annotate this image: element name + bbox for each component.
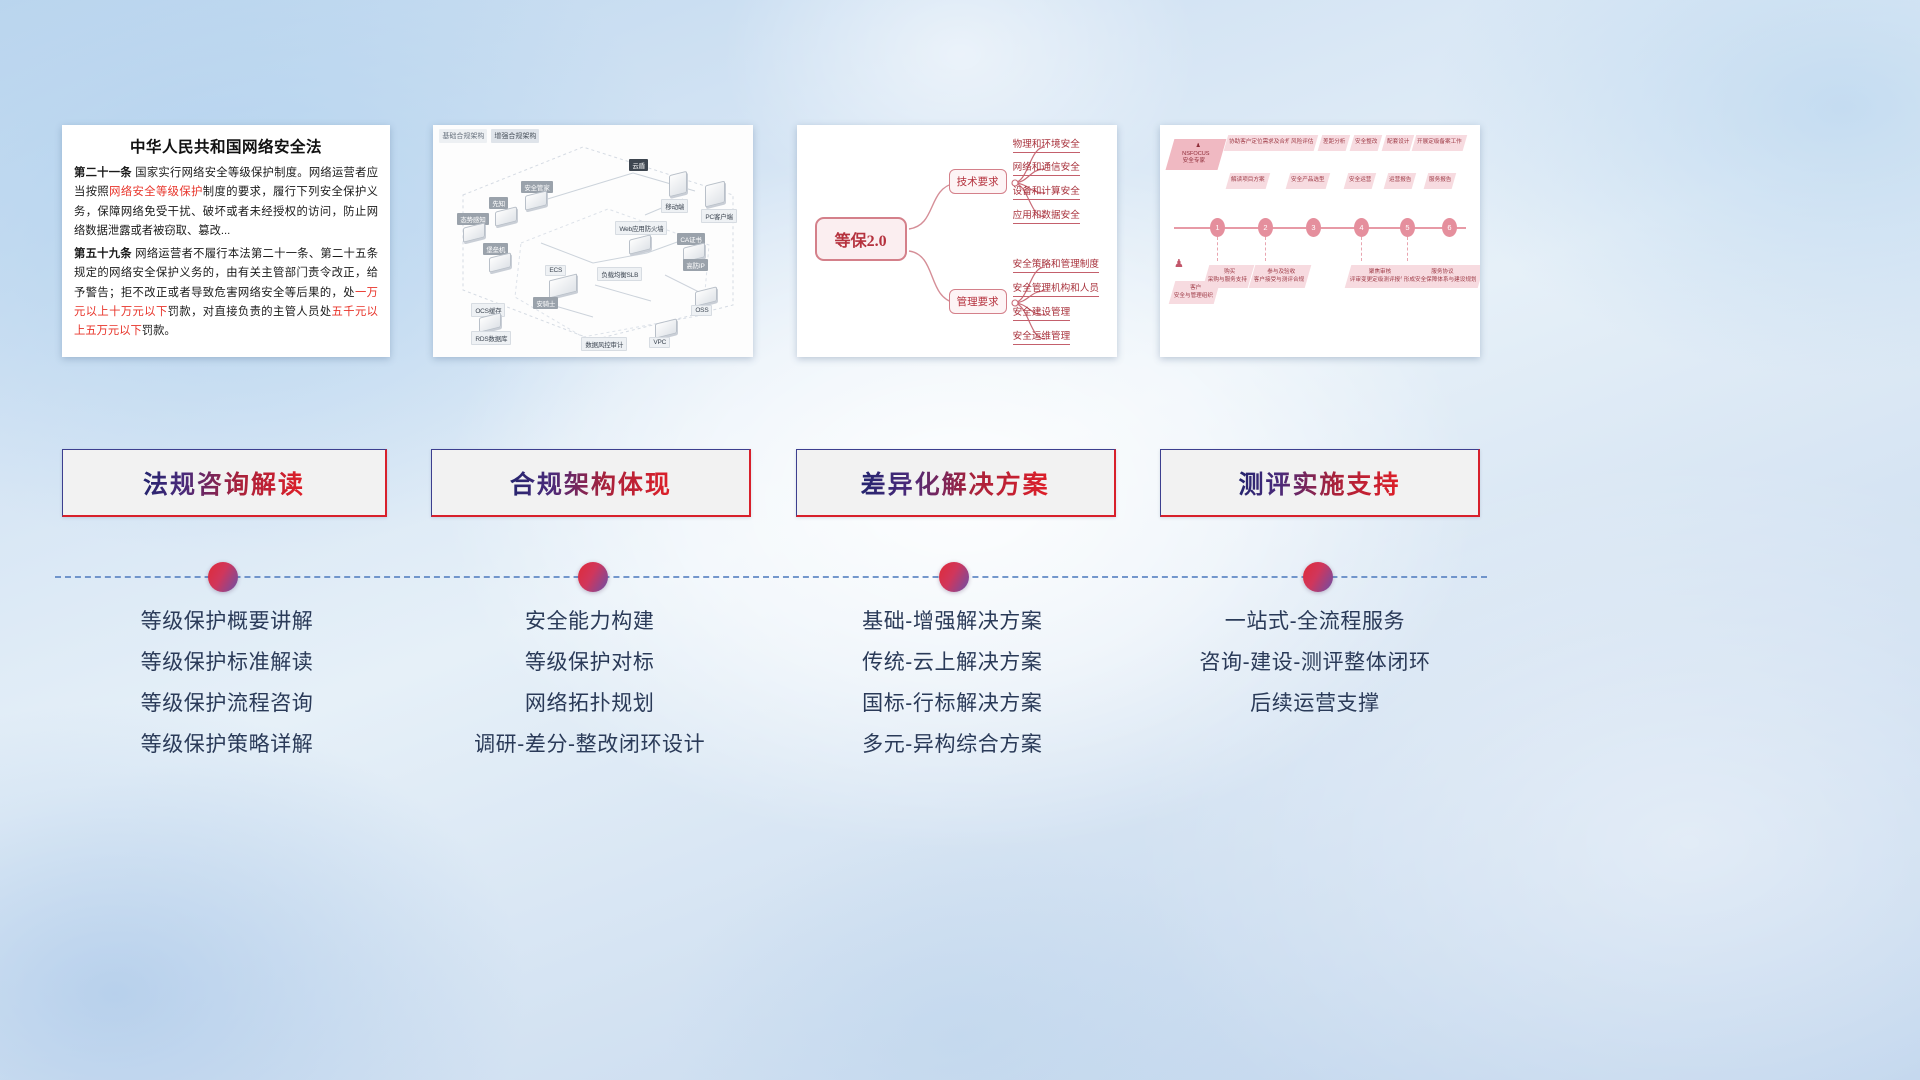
section-title-box-0[interactable]: 法规咨询解读 bbox=[62, 449, 387, 517]
mindmap-leaf-device-compute: 设备和计算安全 bbox=[1013, 183, 1080, 200]
process-canvas: ♟ NSFOCUS 安全专家 协助客户定位需求及合规要求 风险评估 差距分析 安… bbox=[1170, 133, 1470, 349]
law-article-21-highlight: 网络安全等级保护 bbox=[109, 186, 203, 198]
list-item: 后续运营支撑 bbox=[1150, 684, 1480, 725]
process-bottom-tag-3: 服务协议 形成安全保障体系与建设规划 bbox=[1399, 265, 1480, 288]
tab-enhanced-architecture[interactable]: 增强合规架构 bbox=[491, 129, 539, 143]
process-stage-tag-0-text: 解读项目方案 bbox=[1231, 177, 1265, 185]
section-title-box-1[interactable]: 合规架构体现 bbox=[431, 449, 751, 517]
architecture-canvas: 云盾 安全管家 先知 态势感知 堡垒机 ECS 安骑士 OCS缓存 RDS数据库… bbox=[433, 125, 753, 357]
section-titles-row: 法规咨询解读 合规架构体现 差异化解决方案 测评实施支持 bbox=[62, 449, 1480, 517]
node-label-fengkong: 数据风控审计 bbox=[581, 337, 627, 351]
process-stage-tag-1-text: 安全产品选型 bbox=[1291, 177, 1325, 185]
section-title-text-2: 差异化解决方案 bbox=[861, 465, 1050, 501]
list-item: 等级保护对标 bbox=[425, 643, 755, 684]
section-title-box-3[interactable]: 测评实施支持 bbox=[1160, 449, 1480, 517]
process-stage-tag-3: 运营报告 bbox=[1384, 173, 1417, 189]
process-connector-2 bbox=[1265, 237, 1266, 261]
node-label-oss: OSS bbox=[691, 305, 712, 316]
law-article-59-label: 第五十九条 bbox=[74, 248, 132, 260]
node-label-yundun: 云盾 bbox=[629, 159, 648, 171]
node-label-ecs: ECS bbox=[545, 265, 566, 276]
process-step-5: 5 bbox=[1400, 218, 1415, 237]
process-step-1: 1 bbox=[1210, 218, 1225, 237]
list-item: 基础-增强解决方案 bbox=[787, 602, 1117, 643]
process-top-tag-2-text: 差距分析 bbox=[1323, 139, 1345, 147]
node-label-pc: PC客户端 bbox=[701, 209, 737, 223]
mindmap-branch-technical: 技术要求 bbox=[949, 169, 1007, 194]
list-item: 调研-差分-整改闭环设计 bbox=[425, 725, 755, 766]
process-top-tag-1: 风险评估 bbox=[1286, 135, 1319, 151]
mindmap-leaf-physical-env: 物理和环境安全 bbox=[1013, 136, 1080, 153]
process-customer-sub: 安全与管理组织 bbox=[1174, 293, 1213, 301]
section-list-1: 安全能力构建 等级保护对标 网络拓扑规划 调研-差分-整改闭环设计 bbox=[425, 602, 755, 766]
card-cybersecurity-law: 中华人民共和国网络安全法 第二十一条 国家实行网络安全等级保护制度。网络运营者应… bbox=[62, 125, 390, 357]
process-top-tag-5: 开展定级备案工作 bbox=[1412, 135, 1467, 151]
mindmap-branch-management: 管理要求 bbox=[949, 289, 1007, 314]
process-top-tag-5-text: 开展定级备案工作 bbox=[1417, 139, 1462, 147]
node-label-xianzhi: 先知 bbox=[489, 197, 508, 209]
section-list-3: 一站式-全流程服务 咨询-建设-测评整体闭环 后续运营支撑 bbox=[1150, 602, 1480, 766]
process-bottom-tag-3-label: 服务协议 bbox=[1406, 269, 1479, 277]
timeline-dot-2[interactable] bbox=[939, 562, 969, 592]
mindmap-root: 等保2.0 bbox=[815, 217, 907, 261]
mindmap-leaf-construction-mgmt: 安全建设管理 bbox=[1013, 304, 1071, 321]
list-item: 咨询-建设-测评整体闭环 bbox=[1150, 643, 1480, 684]
section-title-text-3: 测评实施支持 bbox=[1238, 465, 1400, 501]
node-label-rds: RDS数据库 bbox=[471, 331, 511, 345]
timeline-dot-3[interactable] bbox=[1303, 562, 1333, 592]
process-connector-4 bbox=[1361, 237, 1362, 261]
law-article-59-middle: 罚款，对直接负责的主管人员处 bbox=[168, 306, 332, 318]
section-title-text-0: 法规咨询解读 bbox=[143, 465, 305, 501]
process-bottom-tag-1-sub: 客户接受与测评合规 bbox=[1254, 277, 1304, 285]
node-label-anquanguanjia: 安全管家 bbox=[521, 181, 552, 193]
process-bottom-tag-2-sub: 评审变更定级测评报告 bbox=[1350, 277, 1406, 285]
node-icon-mobile bbox=[669, 171, 687, 197]
process-stage-tag-3-text: 运营报告 bbox=[1389, 177, 1411, 185]
process-stage-tag-4-text: 服务报告 bbox=[1429, 177, 1451, 185]
process-top-tag-2: 差距分析 bbox=[1318, 135, 1351, 151]
law-article-21-label: 第二十一条 bbox=[74, 167, 132, 179]
timeline bbox=[55, 560, 1487, 594]
node-label-gaofangip: 高防IP bbox=[683, 259, 707, 271]
mindmap-leaf-network-comm: 网络和通信安全 bbox=[1013, 159, 1080, 176]
list-item: 多元-异构综合方案 bbox=[787, 725, 1117, 766]
section-list-0: 等级保护概要讲解 等级保护标准解读 等级保护流程咨询 等级保护策略详解 bbox=[62, 602, 392, 766]
section-list-2: 基础-增强解决方案 传统-云上解决方案 国标-行标解决方案 多元-异构综合方案 bbox=[787, 602, 1117, 766]
list-item: 等级保护策略详解 bbox=[62, 725, 392, 766]
process-bottom-tag-1-label: 参与及验收 bbox=[1256, 269, 1306, 277]
person-star-icon: ♟ bbox=[1175, 143, 1221, 151]
process-step-6: 6 bbox=[1442, 218, 1457, 237]
process-step-2: 2 bbox=[1258, 218, 1273, 237]
timeline-dot-0[interactable] bbox=[208, 562, 238, 592]
section-title-text-1: 合规架构体现 bbox=[510, 465, 672, 501]
timeline-dashed-line bbox=[55, 576, 1487, 578]
node-label-vpc: VPC bbox=[649, 337, 670, 348]
mindmap-leaf-org-personnel: 安全管理机构和人员 bbox=[1013, 280, 1099, 297]
process-brand-tag: ♟ NSFOCUS 安全专家 bbox=[1166, 139, 1227, 170]
tab-basic-architecture[interactable]: 基础合规架构 bbox=[439, 129, 487, 143]
process-top-tag-4-text: 配套设计 bbox=[1387, 139, 1409, 147]
process-connector-5 bbox=[1407, 237, 1408, 261]
node-label-slb: 负载均衡SLB bbox=[597, 267, 642, 281]
process-stage-tag-1: 安全产品选型 bbox=[1286, 173, 1330, 189]
list-item: 一站式-全流程服务 bbox=[1150, 602, 1480, 643]
process-connector-1 bbox=[1217, 237, 1218, 261]
node-label-waf: Web应用防火墙 bbox=[615, 221, 667, 235]
law-article-59: 第五十九条 网络运营者不履行本法第二十一条、第二十五条规定的网络安全保护义务的，… bbox=[74, 245, 378, 342]
process-stage-tag-2-text: 安全运营 bbox=[1349, 177, 1371, 185]
process-stage-tag-0: 解读项目方案 bbox=[1226, 173, 1270, 189]
process-bottom-tag-3-sub: 形成安全保障体系与建设规划 bbox=[1404, 277, 1477, 285]
list-item: 国标-行标解决方案 bbox=[787, 684, 1117, 725]
process-top-tag-3-text: 安全整改 bbox=[1355, 139, 1377, 147]
list-item: 等级保护流程咨询 bbox=[62, 684, 392, 725]
card-process-infographic: ♟ NSFOCUS 安全专家 协助客户定位需求及合规要求 风险评估 差距分析 安… bbox=[1160, 125, 1480, 357]
visual-cards-row: 中华人民共和国网络安全法 第二十一条 国家实行网络安全等级保护制度。网络运营者应… bbox=[62, 125, 1480, 357]
mindmap-leaf-policy-system: 安全策略和管理制度 bbox=[1013, 256, 1099, 273]
process-bottom-tag-2-label: 聚焦审核 bbox=[1352, 269, 1408, 277]
process-bottom-tag-0: 购买 采购与服务支持 bbox=[1203, 265, 1255, 288]
process-brand: NSFOCUS bbox=[1173, 151, 1219, 159]
law-title: 中华人民共和国网络安全法 bbox=[74, 135, 378, 157]
section-lists-row: 等级保护概要讲解 等级保护标准解读 等级保护流程咨询 等级保护策略详解 安全能力… bbox=[62, 602, 1480, 766]
mindmap-leaf-app-data: 应用和数据安全 bbox=[1013, 207, 1080, 224]
law-article-59-end: 罚款。 bbox=[142, 325, 176, 337]
list-item: 安全能力构建 bbox=[425, 602, 755, 643]
card-mindmap: 等保2.0 技术要求 物理和环境安全 网络和通信安全 设备和计算安全 应用和数据… bbox=[797, 125, 1117, 357]
node-label-mobile: 移动端 bbox=[661, 199, 688, 213]
process-step-3: 3 bbox=[1306, 218, 1321, 237]
process-top-tag-4: 配套设计 bbox=[1382, 135, 1415, 151]
list-item: 网络拓扑规划 bbox=[425, 684, 755, 725]
process-bottom-tag-1: 参与及验收 客户接受与测评合规 bbox=[1249, 265, 1312, 288]
law-article-21: 第二十一条 国家实行网络安全等级保护制度。网络运营者应当按照网络安全等级保护制度… bbox=[74, 164, 378, 242]
card-cloud-architecture: 基础合规架构 增强合规架构 云盾 安全管家 先知 态势感知 bbox=[433, 125, 753, 357]
list-item: 传统-云上解决方案 bbox=[787, 643, 1117, 684]
section-title-box-2[interactable]: 差异化解决方案 bbox=[796, 449, 1116, 517]
process-step-4: 4 bbox=[1354, 218, 1369, 237]
process-bottom-tag-0-label: 购买 bbox=[1210, 269, 1249, 277]
list-item: 等级保护标准解读 bbox=[62, 643, 392, 684]
process-top-tag-3: 安全整改 bbox=[1350, 135, 1383, 151]
timeline-dot-1[interactable] bbox=[578, 562, 608, 592]
list-item: 等级保护概要讲解 bbox=[62, 602, 392, 643]
node-label-anqishi: 安骑士 bbox=[533, 297, 558, 309]
customer-person-icon: ♟ bbox=[1174, 259, 1184, 270]
architecture-tabs: 基础合规架构 增强合规架构 bbox=[439, 129, 539, 143]
process-stage-tag-4: 服务报告 bbox=[1424, 173, 1457, 189]
process-bottom-tag-0-sub: 采购与服务支持 bbox=[1208, 277, 1247, 285]
process-top-tag-1-text: 风险评估 bbox=[1291, 139, 1313, 147]
mindmap-leaf-ops-mgmt: 安全运维管理 bbox=[1013, 328, 1071, 345]
process-brand-sub: 安全专家 bbox=[1171, 158, 1217, 166]
process-stage-tag-2: 安全运营 bbox=[1344, 173, 1377, 189]
